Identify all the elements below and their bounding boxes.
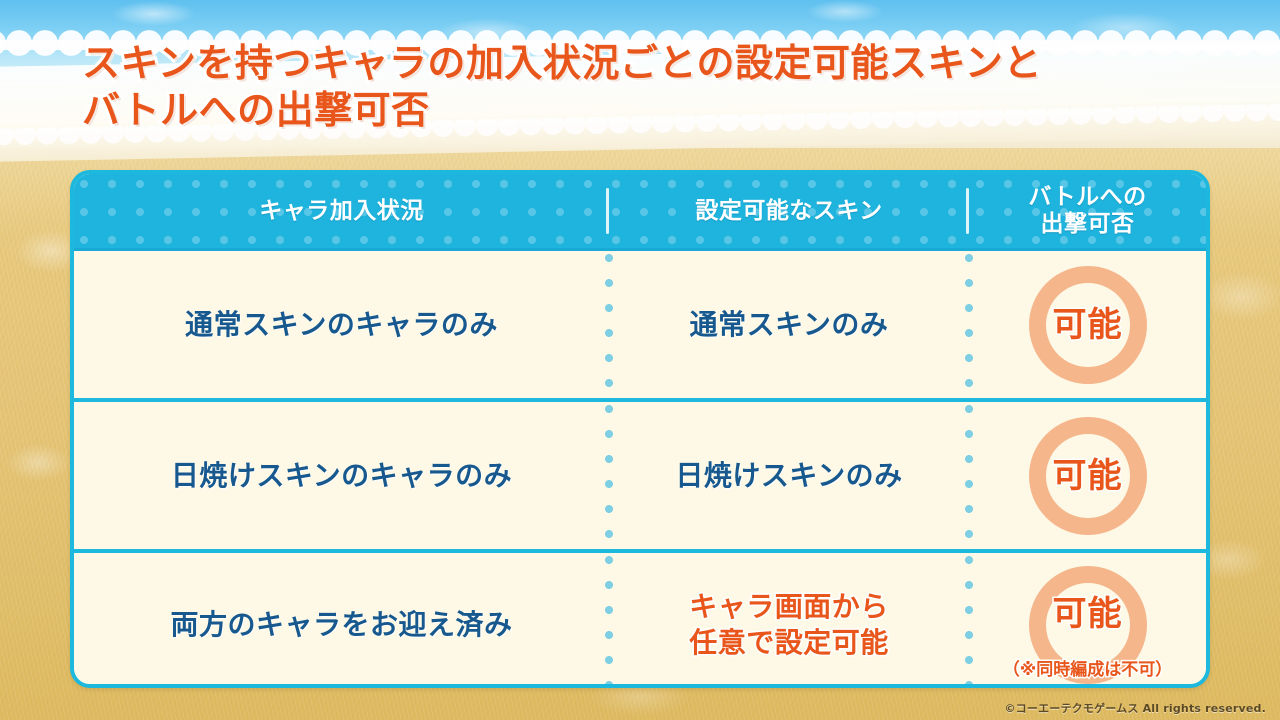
cell-battle: 可能 （※同時編成は不可） [969, 553, 1206, 688]
table-header-battle: バトルへの 出撃可否 [969, 174, 1206, 248]
skin-availability-table: キャラ加入状況 設定可能なスキン バトルへの 出撃可否 通常スキンのキャラのみ … [70, 170, 1210, 688]
verdict-badge: 可能 （※同時編成は不可） [1029, 566, 1147, 684]
table-header-skin: 設定可能なスキン [609, 174, 969, 248]
cell-condition-text: 日焼けスキンのキャラのみ [171, 458, 512, 494]
table-header-battle-label: バトルへの 出撃可否 [1028, 184, 1146, 238]
cell-skin-text: キャラ画面から 任意で設定可能 [689, 589, 889, 661]
copyright-notice: ©コーエーテクモゲームス All rights reserved. [1004, 700, 1266, 716]
table-row: 通常スキンのキャラのみ 通常スキンのみ 可能 [74, 251, 1206, 402]
cell-condition: 日焼けスキンのキャラのみ [74, 402, 609, 549]
cell-skin: 通常スキンのみ [609, 251, 969, 398]
verdict-label: 可能 [1053, 596, 1123, 632]
cell-skin: キャラ画面から 任意で設定可能 [609, 553, 969, 688]
cell-battle: 可能 [969, 402, 1206, 549]
verdict-badge: 可能 [1029, 266, 1147, 384]
verdict-badge: 可能 [1029, 417, 1147, 535]
cell-condition-text: 通常スキンのキャラのみ [185, 307, 498, 343]
table-header-skin-label: 設定可能なスキン [695, 198, 882, 225]
cell-condition-text: 両方のキャラをお迎え済み [170, 607, 512, 643]
verdict-note: （※同時編成は不可） [1003, 661, 1173, 680]
page-title-line-1: スキンを持つキャラの加入状況ごとの設定可能スキンと [82, 40, 1242, 87]
cell-skin-text: 日焼けスキンのみ [675, 458, 902, 494]
table-row: 両方のキャラをお迎え済み キャラ画面から 任意で設定可能 可能 （※同時編成は不… [74, 553, 1206, 688]
cell-condition: 通常スキンのキャラのみ [74, 251, 609, 398]
page-title-line-2: バトルへの出撃可否 [82, 87, 1242, 134]
verdict-label: 可能 [1053, 307, 1123, 343]
cell-condition: 両方のキャラをお迎え済み [74, 553, 609, 688]
table-row: 日焼けスキンのキャラのみ 日焼けスキンのみ 可能 [74, 402, 1206, 553]
table-header-condition-label: キャラ加入状況 [259, 198, 424, 225]
infographic-stage: スキンを持つキャラの加入状況ごとの設定可能スキンと バトルへの出撃可否 キャラ加… [0, 0, 1280, 720]
cell-skin: 日焼けスキンのみ [609, 402, 969, 549]
cell-battle: 可能 [969, 251, 1206, 398]
table-header-row: キャラ加入状況 設定可能なスキン バトルへの 出撃可否 [74, 174, 1206, 251]
table-body: 通常スキンのキャラのみ 通常スキンのみ 可能 日焼けスキンのキャラのみ [74, 251, 1206, 688]
table-header-condition: キャラ加入状況 [74, 174, 609, 248]
cell-skin-text: 通常スキンのみ [690, 307, 889, 343]
page-title: スキンを持つキャラの加入状況ごとの設定可能スキンと バトルへの出撃可否 [82, 40, 1242, 134]
verdict-label: 可能 [1053, 458, 1123, 494]
